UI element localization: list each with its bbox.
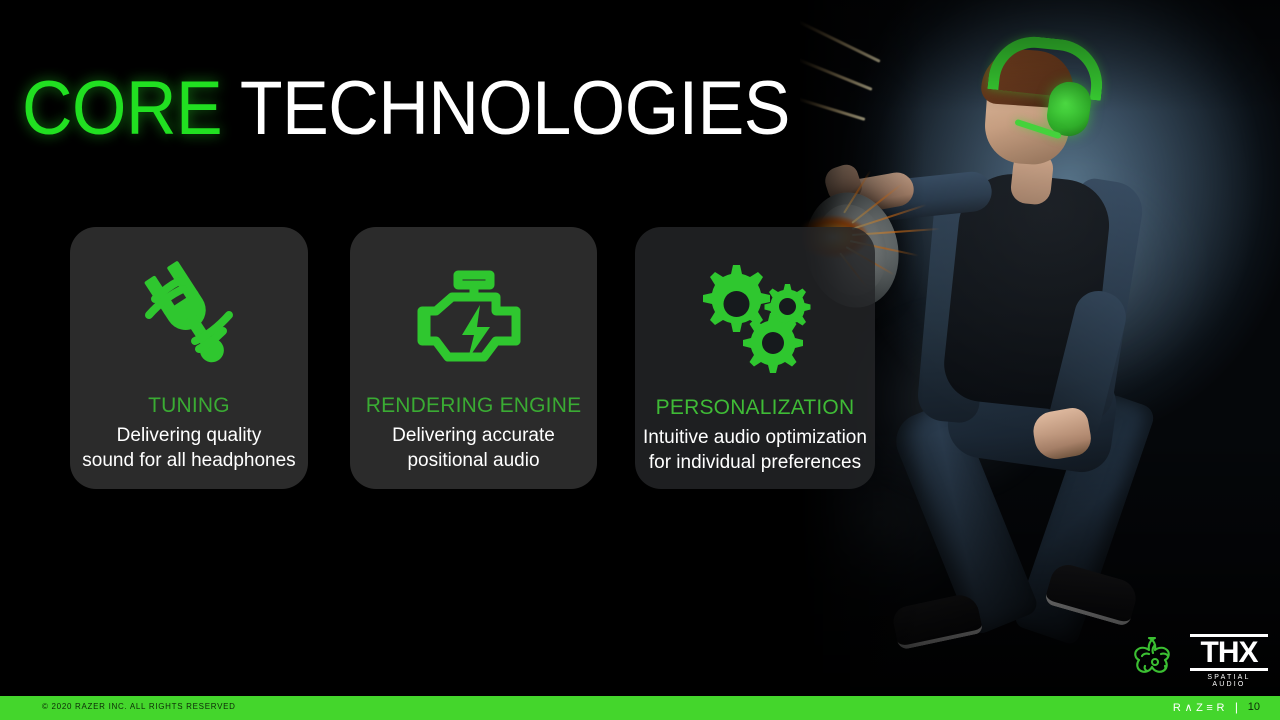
gears-icon [635,251,875,379]
copyright-text: © 2020 RAZER INC. ALL RIGHTS RESERVED [42,702,236,711]
card-description-line: Intuitive audio optimization [603,425,907,450]
card-description: Delivering accurate positional audio [318,423,629,473]
page-number: 10 [1248,701,1260,713]
page-title: CORE TECHNOLOGIES [22,65,790,153]
thx-spatial-audio-logo: THX SPATIAL AUDIO [1190,634,1268,678]
footer-bar: © 2020 RAZER INC. ALL RIGHTS RESERVED R∧… [0,696,1280,720]
title-word-technologies: TECHNOLOGIES [240,66,790,151]
engine-bolt-icon [350,251,597,379]
card-description: Intuitive audio optimization for individ… [603,425,907,475]
thx-tagline: SPATIAL AUDIO [1190,674,1268,688]
title-word-core: CORE [22,66,222,151]
card-heading: PERSONALIZATION [605,396,905,420]
card-heading: RENDERING ENGINE [320,394,627,418]
slide-canvas: CORE TECHNOLOGIES TUNIN [0,0,1280,720]
card-description-line: sound for all headphones [38,448,340,473]
thx-wordmark: THX [1190,634,1268,671]
card-description-line: positional audio [318,448,629,473]
card-description-line: Delivering accurate [318,423,629,448]
footer-separator: | [1235,700,1238,714]
feature-card-tuning[interactable]: TUNING Delivering quality sound for all … [70,227,308,489]
razer-wordmark: R∧Z≡R [1173,701,1228,714]
card-heading: TUNING [40,394,338,418]
feature-card-rendering-engine[interactable]: RENDERING ENGINE Delivering accurate pos… [350,227,597,489]
razer-snake-logo [1128,628,1182,682]
card-description: Delivering quality sound for all headpho… [38,423,340,473]
card-description-line: for individual preferences [603,450,907,475]
card-description-line: Delivering quality [38,423,340,448]
tuning-fork-icon [70,251,308,379]
feature-card-personalization[interactable]: PERSONALIZATION Intuitive audio optimiza… [635,227,875,489]
